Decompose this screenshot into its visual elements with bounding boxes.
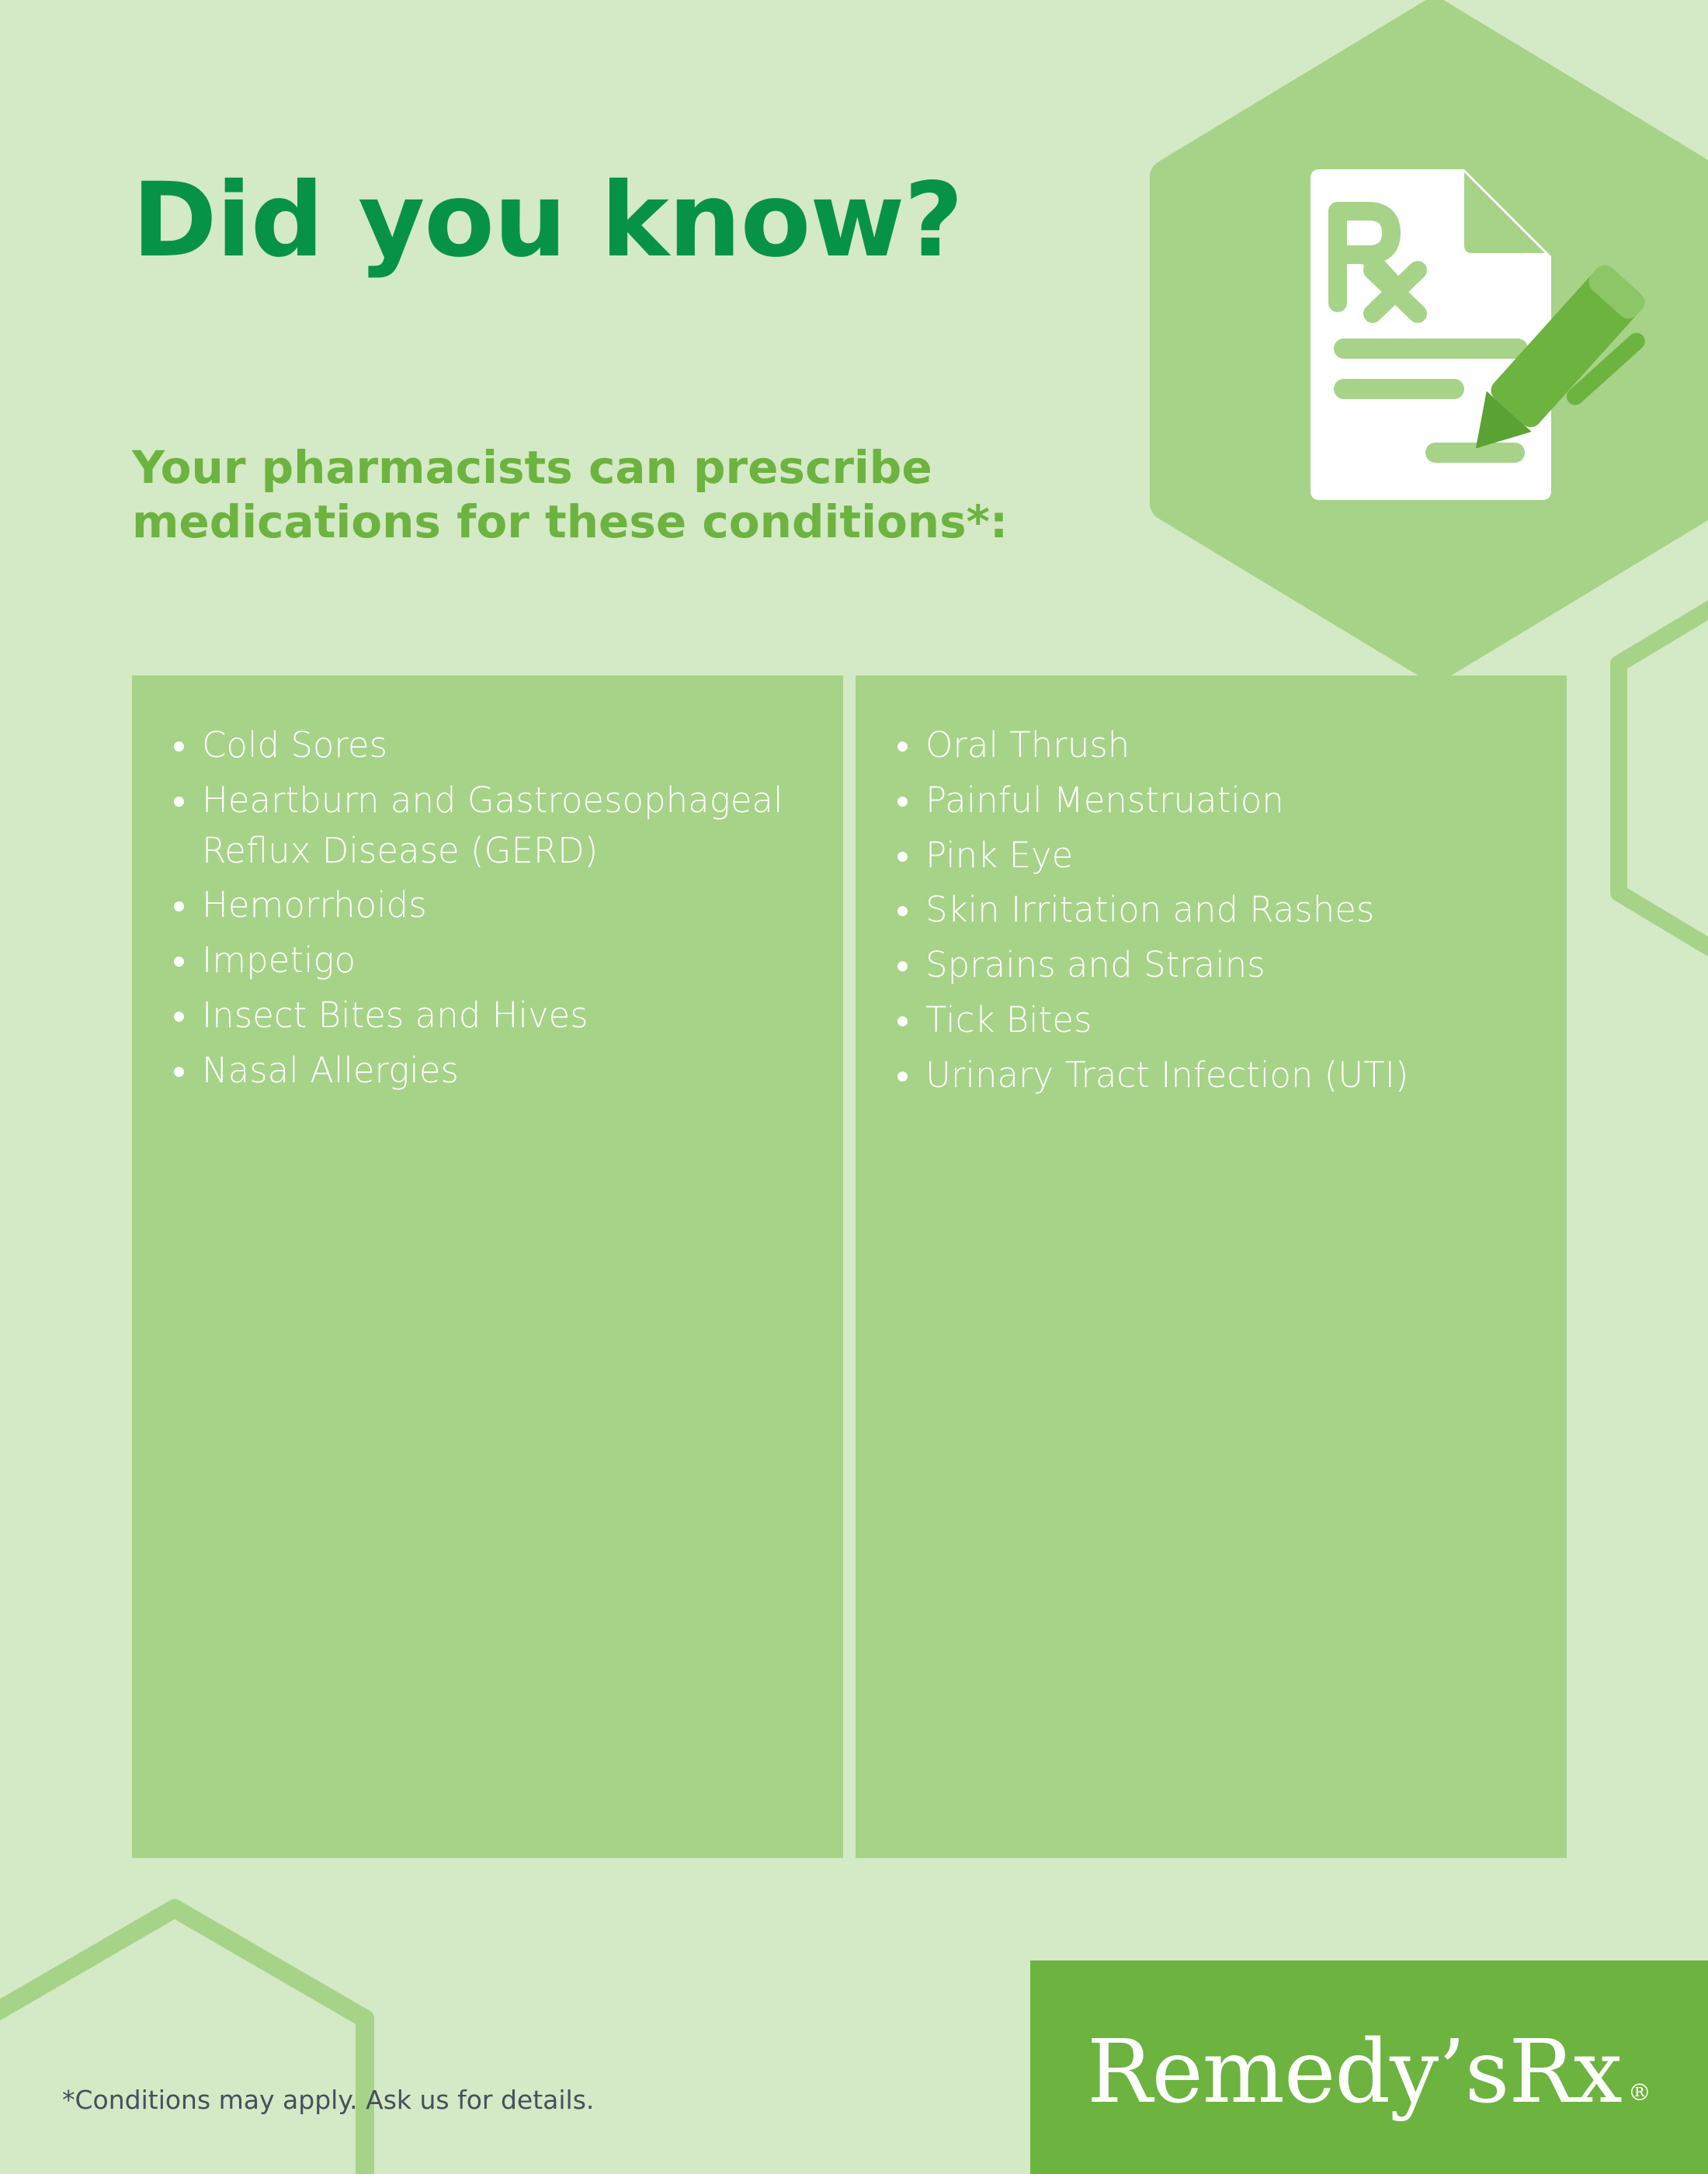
conditions-panel-left: Cold Sores Heartburn and Gastroesophagea… [132,675,843,1858]
subtitle-line-1: Your pharmacists can prescribe [132,441,1141,495]
list-item: Skin Irritation and Rashes [887,885,1536,936]
doc-line-1 [1334,339,1528,359]
brand-logo-text: Remedy’sRx [1087,2029,1622,2116]
prescription-document-icon [1311,169,1551,500]
hexagon-outline-bottom-left [0,1908,365,2174]
registered-mark-icon: ® [1628,2082,1651,2105]
page-subtitle: Your pharmacists can prescribe medicatio… [132,441,1141,549]
list-item: Nasal Allergies [163,1046,812,1096]
page-title: Did you know? [132,169,963,272]
list-item: Hemorrhoids [163,880,812,931]
list-item: Tick Bites [887,995,1536,1046]
footnote: *Conditions may apply. Ask us for detail… [62,2085,594,2115]
conditions-panel-right: Oral Thrush Painful Menstruation Pink Ey… [856,675,1567,1858]
conditions-list-right: Oral Thrush Painful Menstruation Pink Ey… [887,721,1536,1101]
list-item: Painful Menstruation [887,776,1536,826]
list-item: Oral Thrush [887,721,1536,771]
subtitle-line-2: medications for these conditions*: [132,495,1141,550]
pen-icon [1453,261,1669,487]
brand-logo-block: Remedy’sRx ® [1030,1960,1708,2174]
list-item: Sprains and Strains [887,940,1536,991]
hexagon-outline-right [1619,559,1708,998]
doc-signature-line [1425,443,1525,463]
rx-symbol [1338,211,1418,314]
conditions-panels: Cold Sores Heartburn and Gastroesophagea… [132,675,1567,1858]
conditions-list-left: Cold Sores Heartburn and Gastroesophagea… [163,721,812,1096]
list-item: Cold Sores [163,721,812,771]
hexagon-badge [1168,16,1702,665]
list-item: Insect Bites and Hives [163,991,812,1041]
doc-line-2 [1334,379,1464,399]
list-item: Impetigo [163,936,812,986]
list-item: Pink Eye [887,831,1536,881]
list-item: Heartburn and Gastroesophageal Reflux Di… [163,776,812,877]
logo-wrap: Remedy’sRx ® [1087,2029,1651,2116]
list-item: Urinary Tract Infection (UTI) [887,1051,1536,1101]
